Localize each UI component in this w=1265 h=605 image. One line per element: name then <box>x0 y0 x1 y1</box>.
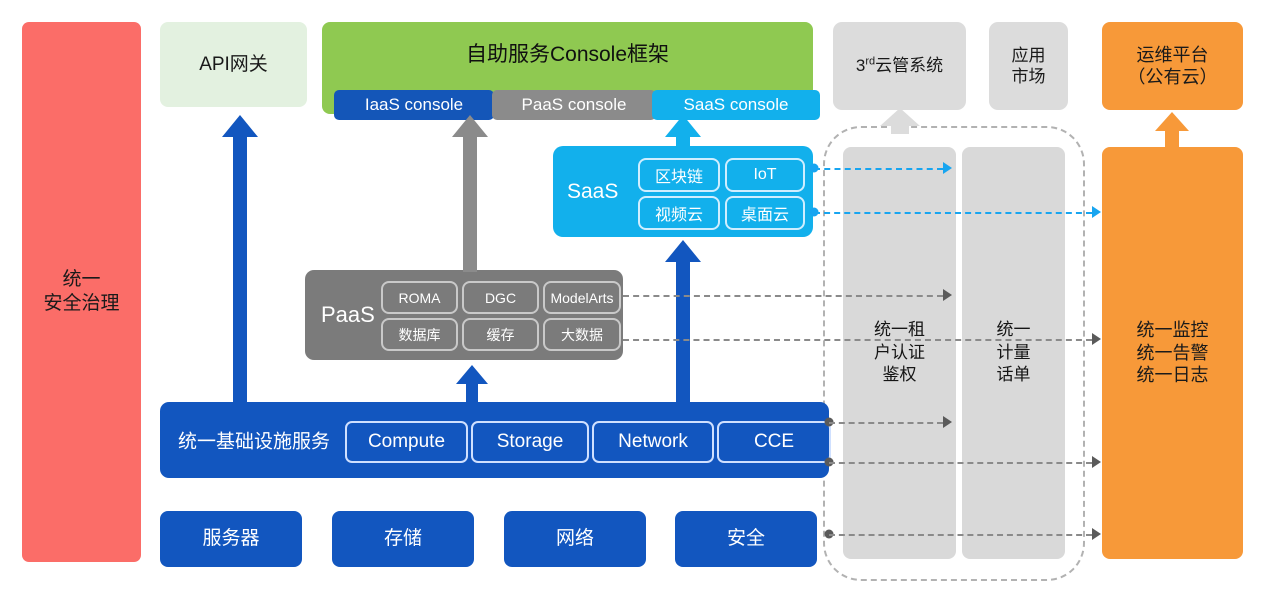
paas-chip-database[interactable]: 数据库 <box>381 318 458 351</box>
foundation-item-storage-label: 存储 <box>384 527 422 551</box>
infra-chip-compute[interactable]: Compute <box>345 421 468 463</box>
paas-chip-database-label: 数据库 <box>399 325 441 345</box>
architecture-diagram: 统一 安全治理 API网关 自助服务Console框架 IaaS console… <box>0 0 1265 605</box>
infra-chip-network[interactable]: Network <box>592 421 714 463</box>
ops-platform-block: 运维平台 （公有云） <box>1102 22 1243 110</box>
infra-chip-storage-label: Storage <box>497 431 564 453</box>
tenant-auth-line2: 户认证 <box>874 342 925 365</box>
paas-panel: PaaS ROMA DGC ModelArts 数据库 缓存 大数据 <box>305 270 623 360</box>
arrowhead-infra-to-tenant-auth <box>943 416 952 428</box>
infra-chip-cce-label: CCE <box>754 431 794 453</box>
foundation-item-server[interactable]: 服务器 <box>160 511 302 567</box>
infra-chip-storage[interactable]: Storage <box>471 421 589 463</box>
arrow-infra-to-api-gateway <box>222 115 258 403</box>
ops-platform-line1: 运维平台 <box>1137 44 1209 67</box>
ops-detail-line2: 统一告警 <box>1137 342 1209 365</box>
connector-paas-to-tenant-auth <box>623 295 943 297</box>
third-party-sup: rd <box>865 56 875 68</box>
foundation-item-storage[interactable]: 存储 <box>332 511 474 567</box>
metering-line3: 话单 <box>997 364 1031 387</box>
infra-chip-network-label: Network <box>618 431 688 453</box>
arrow-ops-detail-to-ops-platform <box>1155 112 1189 148</box>
paas-chip-dgc[interactable]: DGC <box>462 281 539 314</box>
paas-chip-modelarts-label: ModelArts <box>550 290 613 306</box>
saas-chip-iot-label: IoT <box>753 166 776 184</box>
connector-paas-to-ops <box>623 339 1092 341</box>
arrowhead-foundation-to-ops <box>1092 528 1101 540</box>
paas-panel-label: PaaS <box>321 302 375 328</box>
infra-bar-label: 统一基础设施服务 <box>178 427 330 454</box>
ops-monitoring-block: 统一监控 统一告警 统一日志 <box>1102 147 1243 559</box>
saas-chip-desktop-cloud-label: 桌面云 <box>741 201 789 225</box>
arrowhead-saas-to-tenant-auth <box>943 162 952 174</box>
arrow-shared-to-third-party <box>880 108 920 134</box>
ops-platform-line2: （公有云） <box>1128 66 1218 89</box>
unified-metering-billing-column: 统一 计量 话单 <box>962 147 1065 559</box>
api-gateway-block: API网关 <box>160 22 307 107</box>
paas-console-label: PaaS console <box>522 95 627 115</box>
paas-chip-cache[interactable]: 缓存 <box>462 318 539 351</box>
foundation-item-server-label: 服务器 <box>202 527 259 551</box>
paas-chip-cache-label: 缓存 <box>487 325 515 345</box>
arrow-saas-to-console <box>665 115 701 148</box>
unified-security-governance-block: 统一 安全治理 <box>22 22 141 562</box>
connector-saas-to-tenant-auth <box>814 168 943 170</box>
app-market-line2: 市场 <box>1012 66 1046 87</box>
arrowhead-saas-to-ops <box>1092 206 1101 218</box>
metering-line2: 计量 <box>997 342 1031 365</box>
saas-panel: SaaS 区块链 IoT 视频云 桌面云 <box>553 146 813 237</box>
ops-detail-line3: 统一日志 <box>1137 364 1209 387</box>
infra-chip-cce[interactable]: CCE <box>717 421 831 463</box>
arrow-infra-to-paas <box>456 365 488 404</box>
paas-chip-roma-label: ROMA <box>399 290 441 306</box>
arrow-paas-to-console <box>452 115 488 272</box>
saas-chip-blockchain-label: 区块链 <box>655 163 703 187</box>
foundation-item-security[interactable]: 安全 <box>675 511 817 567</box>
connector-infra-to-tenant-auth <box>829 422 943 424</box>
unified-infrastructure-bar: 统一基础设施服务 Compute Storage Network CCE <box>160 402 829 478</box>
connector-infra-to-ops <box>829 462 1092 464</box>
foundation-item-network-label: 网络 <box>556 527 594 551</box>
arrowhead-paas-to-tenant-auth <box>943 289 952 301</box>
infra-chip-compute-label: Compute <box>368 431 445 453</box>
connector-saas-to-ops <box>814 212 1092 214</box>
api-gateway-label: API网关 <box>199 53 268 77</box>
saas-chip-video-cloud[interactable]: 视频云 <box>638 196 720 230</box>
unified-security-line1: 统一 <box>62 268 100 292</box>
paas-chip-modelarts[interactable]: ModelArts <box>543 281 621 314</box>
saas-chip-blockchain[interactable]: 区块链 <box>638 158 720 192</box>
iaas-console-label: IaaS console <box>365 95 463 115</box>
foundation-item-network[interactable]: 网络 <box>504 511 646 567</box>
ops-detail-line1: 统一监控 <box>1137 319 1209 342</box>
saas-panel-label: SaaS <box>567 180 618 204</box>
unified-tenant-auth-column: 统一租 户认证 鉴权 <box>843 147 956 559</box>
saas-chip-desktop-cloud[interactable]: 桌面云 <box>725 196 805 230</box>
arrowhead-paas-to-ops <box>1092 333 1101 345</box>
third-party-label: 3rd云管系统 <box>856 55 943 76</box>
app-market-block: 应用 市场 <box>989 22 1068 110</box>
arrowhead-infra-to-ops <box>1092 456 1101 468</box>
self-service-console-frame: 自助服务Console框架 IaaS console PaaS console … <box>322 22 813 114</box>
connector-foundation-to-ops <box>829 534 1092 536</box>
console-frame-title: 自助服务Console框架 <box>322 38 813 68</box>
tenant-auth-line3: 鉴权 <box>874 364 925 387</box>
paas-chip-roma[interactable]: ROMA <box>381 281 458 314</box>
app-market-line1: 应用 <box>1012 45 1046 66</box>
unified-security-line2: 安全治理 <box>43 292 119 316</box>
foundation-item-security-label: 安全 <box>727 527 765 551</box>
paas-chip-bigdata-label: 大数据 <box>561 325 603 345</box>
paas-chip-dgc-label: DGC <box>485 290 516 306</box>
arrow-infra-to-saas <box>665 240 701 404</box>
paas-console-chip[interactable]: PaaS console <box>492 90 656 120</box>
saas-chip-video-cloud-label: 视频云 <box>655 201 703 225</box>
saas-chip-iot[interactable]: IoT <box>725 158 805 192</box>
saas-console-label: SaaS console <box>684 95 789 115</box>
paas-chip-bigdata[interactable]: 大数据 <box>543 318 621 351</box>
third-party-cloud-mgmt-block: 3rd云管系统 <box>833 22 966 110</box>
